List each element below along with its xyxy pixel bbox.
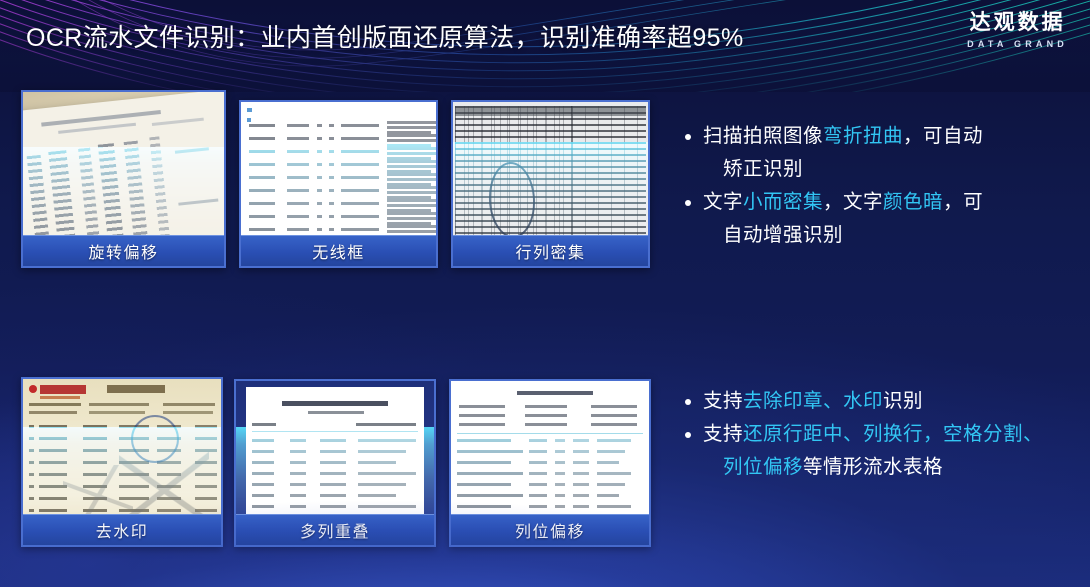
doc-texture-block <box>457 472 523 475</box>
doc-texture-block <box>287 215 309 218</box>
doc-texture-block <box>320 505 346 508</box>
doc-texture-block <box>457 494 523 497</box>
doc-texture-block <box>320 439 346 442</box>
doc-texture-block <box>290 439 306 442</box>
doc-texture-block <box>195 437 217 440</box>
doc-texture-block <box>287 124 309 127</box>
doc-texture-block <box>329 189 334 192</box>
doc-texture-block <box>358 461 396 464</box>
doc-texture-block <box>29 485 34 488</box>
bullet-3-seg-1: 去除印章、水印 <box>743 390 883 412</box>
doc-texture-block <box>358 494 396 497</box>
doc-texture-block <box>387 186 436 189</box>
bullet-4-seg-1: 还原行距中、列换行，空格分割、 <box>743 423 1043 445</box>
doc-texture-block <box>529 472 547 475</box>
doc-texture-block <box>573 450 589 453</box>
doc-texture-block <box>529 461 547 464</box>
doc-texture-block <box>597 494 619 497</box>
doc-texture-block <box>591 423 637 426</box>
thumbnail-caption: 旋转偏移 <box>23 235 224 266</box>
doc-texture-block <box>387 199 436 202</box>
doc-texture-block <box>29 425 34 428</box>
doc-texture-block <box>29 461 34 464</box>
doc-texture-block <box>249 150 275 153</box>
doc-texture-block <box>555 439 565 442</box>
doc-texture-block <box>591 405 637 408</box>
bullet-item-2: 文字小而密集，文字颜色暗，可 自动增强识别 <box>683 186 1073 252</box>
doc-texture-block <box>387 121 436 124</box>
doc-texture-block <box>457 450 523 453</box>
doc-texture-block <box>459 423 505 426</box>
doc-texture-block <box>529 450 547 453</box>
doc-texture-block <box>290 494 306 497</box>
doc-texture-block <box>39 437 67 440</box>
bullet-4-seg-0: 支持 <box>703 423 743 445</box>
doc-texture-block <box>290 450 306 453</box>
doc-texture-block <box>317 215 322 218</box>
doc-texture-block <box>252 505 274 508</box>
doc-texture-block <box>387 147 436 150</box>
doc-texture-block <box>329 176 334 179</box>
thumbnail-caption: 去水印 <box>23 514 221 545</box>
doc-texture-block <box>195 425 217 428</box>
doc-texture-block <box>39 425 67 428</box>
doc-texture-block <box>249 202 275 205</box>
doc-texture-block <box>320 450 346 453</box>
doc-texture-block <box>591 414 637 417</box>
slide-root: OCR流水文件识别：业内首创版面还原算法，识别准确率超95% 达观数据 DATA… <box>0 0 1090 587</box>
doc-texture-block <box>317 189 322 192</box>
doc-texture-block <box>83 425 107 428</box>
doc-texture-block <box>525 414 567 417</box>
doc-texture-block <box>29 473 34 476</box>
thumbnail-caption: 无线框 <box>241 235 436 266</box>
doc-texture-block <box>317 150 322 153</box>
doc-texture-block <box>329 215 334 218</box>
doc-texture-block <box>29 437 34 440</box>
doc-texture-block <box>387 165 436 168</box>
bullet-2-seg-1: 小而密集 <box>743 191 823 213</box>
doc-texture-block <box>329 150 334 153</box>
bullet-4-continuation: 列位偏移等情形流水表格 <box>703 451 1083 484</box>
doc-texture-block <box>387 139 436 142</box>
thumbnail-watermark-removal[interactable]: 去水印 <box>21 377 223 547</box>
doc-texture-block <box>287 150 309 153</box>
doc-texture-block <box>290 461 306 464</box>
doc-texture-block <box>358 439 416 442</box>
doc-texture-block <box>459 405 505 408</box>
thumbnail-caption: 多列重叠 <box>236 514 434 545</box>
thumbnail-dense-grid[interactable]: 行列密集 <box>451 100 650 268</box>
doc-texture-block <box>39 461 67 464</box>
doc-texture-block <box>341 137 379 140</box>
doc-texture-block <box>329 202 334 205</box>
doc-texture-block <box>341 176 379 179</box>
doc-texture-block <box>83 437 107 440</box>
doc-texture-block <box>287 228 309 231</box>
brand-logo: 达观数据 DATA GRAND <box>967 12 1068 49</box>
thumbnail-borderless[interactable]: 无线框 <box>239 100 438 268</box>
doc-texture-block <box>387 230 436 233</box>
bullet-4-cont-seg-0: 列位偏移 <box>723 456 803 478</box>
doc-texture-block <box>529 505 547 508</box>
bullet-2-seg-2: ，文字 <box>823 191 883 213</box>
doc-texture-block <box>573 505 589 508</box>
doc-texture-block <box>287 137 309 140</box>
doc-texture-block <box>341 189 379 192</box>
doc-texture-block <box>287 163 309 166</box>
doc-texture-block <box>457 483 511 486</box>
bullet-item-4: 支持还原行距中、列换行，空格分割、 列位偏移等情形流水表格 <box>683 418 1083 484</box>
doc-texture-block <box>317 124 322 127</box>
doc-texture-block <box>249 124 275 127</box>
thumbnail-overlapping-columns[interactable]: 多列重叠 <box>234 379 436 547</box>
doc-texture-block <box>573 461 589 464</box>
doc-texture-block <box>29 449 34 452</box>
doc-texture-block <box>341 163 379 166</box>
bullet-item-3: 支持去除印章、水印识别 <box>683 385 1083 418</box>
doc-texture-block <box>555 461 565 464</box>
bullet-group-top: 扫描拍照图像弯折扭曲，可自动 矫正识别 文字小而密集，文字颜色暗，可 自动增强识… <box>683 120 1073 252</box>
doc-texture-block <box>555 505 565 508</box>
logo-english-name: DATA GRAND <box>967 40 1068 49</box>
doc-texture-block <box>290 472 306 475</box>
doc-texture-block <box>387 152 436 155</box>
doc-texture-block <box>341 228 379 231</box>
doc-texture-block <box>387 160 436 163</box>
doc-texture-block <box>329 228 334 231</box>
bullet-4-cont-seg-1: 等情形流水表格 <box>803 456 943 478</box>
doc-texture-block <box>387 191 436 194</box>
thumbnail-caption: 行列密集 <box>453 235 648 266</box>
doc-texture-block <box>341 124 379 127</box>
doc-texture-block <box>287 176 309 179</box>
doc-texture-block <box>387 173 436 176</box>
doc-texture-block <box>529 439 547 442</box>
doc-texture-block <box>573 439 589 442</box>
doc-texture-block <box>597 439 631 442</box>
doc-texture-block <box>358 483 406 486</box>
doc-texture-block <box>249 137 275 140</box>
bullet-2-seg-0: 文字 <box>703 191 743 213</box>
doc-texture-block <box>358 472 416 475</box>
doc-texture-block <box>529 483 547 486</box>
doc-texture-block <box>387 204 436 207</box>
doc-texture-block <box>457 439 511 442</box>
bullet-2-seg-3: 颜色暗 <box>883 191 943 213</box>
doc-texture-block <box>387 178 436 181</box>
doc-texture-block <box>597 450 625 453</box>
doc-texture-block <box>597 505 631 508</box>
bullet-1-continuation: 矫正识别 <box>703 153 1073 186</box>
doc-texture-block <box>317 176 322 179</box>
doc-texture-block <box>320 494 346 497</box>
bullet-1-seg-0: 扫描拍照图像 <box>703 125 823 147</box>
doc-texture-block <box>320 483 346 486</box>
doc-texture-block <box>317 228 322 231</box>
bullet-2-continuation: 自动增强识别 <box>703 219 1073 252</box>
bullet-3-seg-0: 支持 <box>703 390 743 412</box>
doc-texture-block <box>573 472 589 475</box>
doc-texture-block <box>341 215 379 218</box>
doc-texture-block <box>358 450 406 453</box>
doc-texture-block <box>29 497 34 500</box>
doc-texture-block <box>320 472 346 475</box>
doc-texture-block <box>597 483 625 486</box>
bullet-1-seg-2: ，可自动 <box>903 125 983 147</box>
doc-texture-block <box>252 461 274 464</box>
doc-texture-block <box>39 449 67 452</box>
doc-texture-block <box>573 483 589 486</box>
page-title: OCR流水文件识别：业内首创版面还原算法，识别准确率超95% <box>26 18 744 54</box>
doc-texture-block <box>529 494 547 497</box>
thumbnail-column-shift[interactable]: 列位偏移 <box>449 379 651 547</box>
doc-texture-block <box>252 439 274 442</box>
doc-texture-block <box>525 423 567 426</box>
doc-texture-block <box>329 137 334 140</box>
doc-texture-block <box>252 450 274 453</box>
doc-texture-block <box>597 461 619 464</box>
doc-texture-block <box>249 176 275 179</box>
doc-texture-block <box>341 150 379 153</box>
doc-texture-block <box>287 202 309 205</box>
doc-texture-block <box>387 212 436 215</box>
doc-texture-block <box>341 202 379 205</box>
doc-texture-block <box>83 461 107 464</box>
doc-texture-block <box>252 483 274 486</box>
doc-texture-block <box>457 505 511 508</box>
bullet-3-seg-2: 识别 <box>883 390 923 412</box>
bullet-group-bottom: 支持去除印章、水印识别 支持还原行距中、列换行，空格分割、 列位偏移等情形流水表… <box>683 385 1083 484</box>
doc-texture-block <box>555 472 565 475</box>
doc-texture-block <box>387 225 436 228</box>
doc-texture-block <box>252 472 274 475</box>
doc-texture-block <box>387 217 436 220</box>
doc-texture-block <box>457 461 511 464</box>
bullet-item-1: 扫描拍照图像弯折扭曲，可自动 矫正识别 <box>683 120 1073 186</box>
doc-texture-block <box>317 137 322 140</box>
thumbnail-rotated-offset[interactable]: 旋转偏移 <box>21 90 226 268</box>
doc-texture-block <box>320 461 346 464</box>
doc-texture-block <box>290 505 306 508</box>
doc-texture-block <box>249 189 275 192</box>
doc-texture-block <box>317 202 322 205</box>
doc-texture-block <box>249 163 275 166</box>
doc-texture-block <box>329 124 334 127</box>
doc-texture-block <box>290 483 306 486</box>
doc-texture-block <box>555 483 565 486</box>
doc-texture-block <box>525 405 567 408</box>
bullet-2-seg-4: ，可 <box>943 191 983 213</box>
doc-texture-block <box>317 163 322 166</box>
thumbnail-caption: 列位偏移 <box>451 514 649 545</box>
doc-texture-block <box>29 509 34 512</box>
doc-texture-block <box>249 228 275 231</box>
doc-texture-block <box>597 472 631 475</box>
doc-texture-block <box>387 126 436 129</box>
doc-texture-block <box>252 494 274 497</box>
doc-texture-block <box>555 450 565 453</box>
bullet-1-seg-1: 弯折扭曲 <box>823 125 903 147</box>
doc-texture-block <box>387 134 436 137</box>
doc-texture-block <box>555 494 565 497</box>
doc-texture-block <box>249 215 275 218</box>
doc-texture-block <box>459 414 505 417</box>
logo-chinese-name: 达观数据 <box>967 12 1068 33</box>
doc-texture-block <box>329 163 334 166</box>
doc-texture-block <box>287 189 309 192</box>
doc-texture-block <box>573 494 589 497</box>
doc-texture-block <box>83 449 107 452</box>
doc-texture-block <box>358 505 416 508</box>
